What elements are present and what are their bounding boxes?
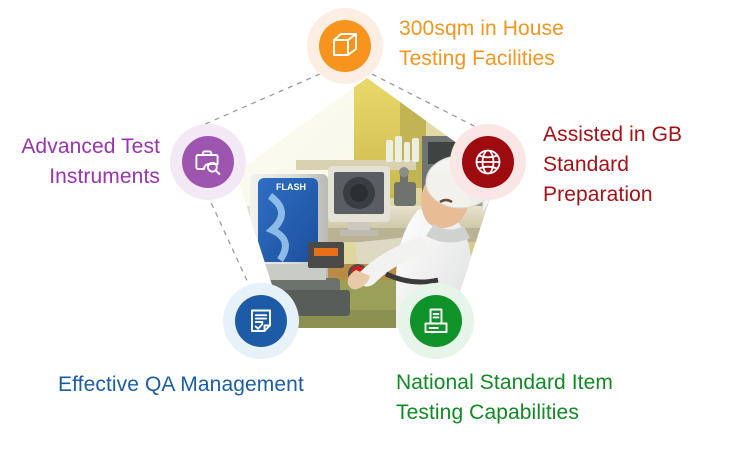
- cube-icon: [330, 31, 360, 61]
- label-advanced-test-instruments: Advanced Test Instruments: [0, 132, 160, 192]
- node-effective-qa-management[interactable]: [223, 283, 299, 359]
- node-gb-standard-preparation[interactable]: [450, 124, 526, 200]
- label-national-standard-item-testing: National Standard Item Testing Capabilit…: [396, 368, 613, 428]
- globe-icon: [473, 147, 503, 177]
- certificate-stand-icon: [421, 306, 451, 336]
- label-gb-standard-preparation: Assisted in GB Standard Preparation: [543, 120, 682, 210]
- node-advanced-test-instruments[interactable]: [170, 124, 246, 200]
- label-effective-qa-management: Effective QA Management: [58, 370, 304, 400]
- node-gb-standard-preparation-disc: [462, 136, 514, 188]
- toolbox-search-icon: [193, 147, 223, 177]
- svg-text:FLASH: FLASH: [276, 182, 306, 192]
- node-effective-qa-management-disc: [235, 295, 287, 347]
- node-advanced-test-instruments-disc: [182, 136, 234, 188]
- node-national-standard-item-testing-disc: [410, 295, 462, 347]
- node-national-standard-item-testing[interactable]: [398, 283, 474, 359]
- node-testing-facilities[interactable]: [307, 8, 383, 84]
- document-check-icon: [246, 306, 276, 336]
- node-testing-facilities-disc: [319, 20, 371, 72]
- label-testing-facilities: 300sqm in House Testing Facilities: [399, 14, 564, 74]
- infographic-canvas: FLASH: [0, 0, 737, 457]
